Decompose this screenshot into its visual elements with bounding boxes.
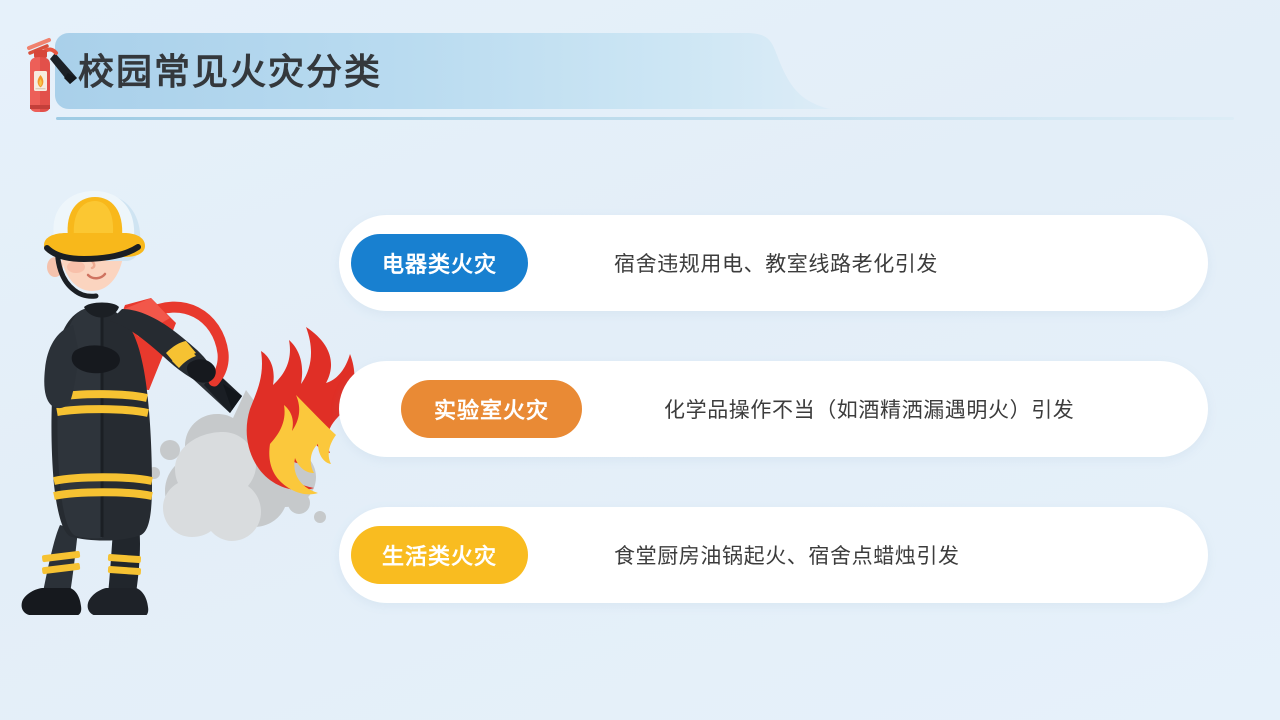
page-title: 校园常见火灾分类 [78,52,382,92]
category-description: 化学品操作不当（如酒精洒漏遇明火）引发 [664,361,1074,457]
category-card[interactable]: 实验室火灾 化学品操作不当（如酒精洒漏遇明火）引发 [339,361,1208,457]
header-divider [56,117,1234,120]
helmet [44,191,145,261]
fire-extinguisher-icon [14,26,86,118]
category-tag-electrical[interactable]: 电器类火灾 [351,234,528,292]
category-card[interactable]: 电器类火灾 宿舍违规用电、教室线路老化引发 [339,215,1208,311]
category-description: 宿舍违规用电、教室线路老化引发 [614,215,938,311]
category-tag-laboratory[interactable]: 实验室火灾 [401,380,582,438]
category-card[interactable]: 生活类火灾 食堂厨房油锅起火、宿舍点蜡烛引发 [339,507,1208,603]
category-tag-daily-life[interactable]: 生活类火灾 [351,526,528,584]
category-description: 食堂厨房油锅起火、宿舍点蜡烛引发 [614,507,960,603]
slide-canvas: 校园常见火灾分类 [0,0,1280,720]
